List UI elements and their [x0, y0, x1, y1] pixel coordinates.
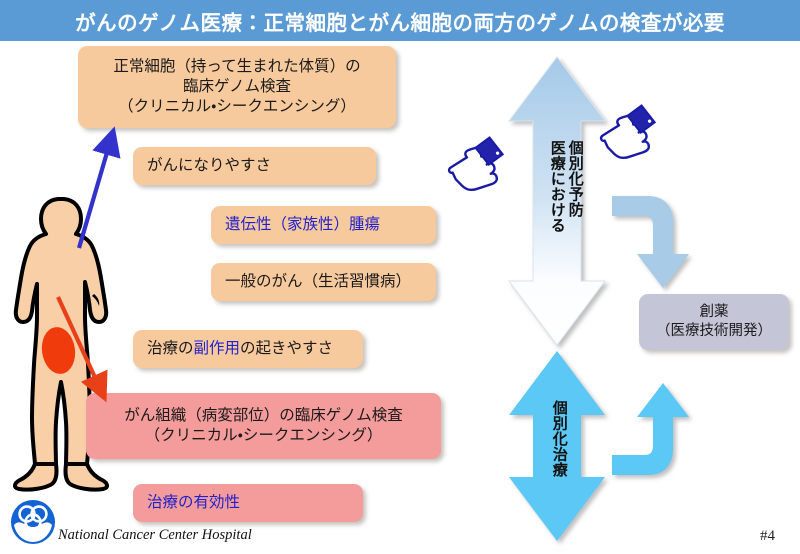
pointing-hand-icon-lower	[595, 103, 662, 163]
box-drug-discovery[interactable]: 創薬 （医療技術開発）	[639, 294, 789, 350]
box-hereditary-tumor[interactable]: 遺伝性（家族性）腫瘍	[211, 206, 436, 244]
side-effect-label: 治療の副作用の起きやすさ	[147, 339, 333, 359]
curved-arrow-up-icon	[612, 383, 689, 475]
common-cancer-label: 一般のがん（生活習慣病）	[225, 272, 411, 292]
page-number: #4	[760, 528, 775, 545]
curved-arrow-down-icon	[612, 196, 689, 288]
tumor-tissue-line2: （クリニカル・シークエンシング）	[124, 426, 403, 446]
hereditary-tumor-label: 遺伝性（家族性）腫瘍	[225, 215, 380, 235]
box-normal-cell-genome-test[interactable]: 正常細胞（持って生まれた体質）の 臨床ゲノム検査 （クリニカル・シークエンシング…	[78, 46, 396, 128]
side-effect-prefix: 治療の	[147, 340, 194, 357]
box-tumor-tissue-genome-test[interactable]: がん組織（病変部位）の臨床ゲノム検査 （クリニカル・シークエンシング）	[86, 393, 441, 459]
side-effect-suffix: の起きやすさ	[240, 340, 333, 357]
label-personalized-prevention-col2: 個別化予防	[566, 140, 584, 218]
normal-cell-line3: （クリニカル・シークエンシング）	[113, 97, 360, 117]
slide-canvas: がんのゲノム医療：正常細胞とがん細胞の両方のゲノムの検査が必要 正常細胞（持って…	[0, 0, 800, 554]
drug-discovery-line2: （医療技術開発）	[656, 322, 772, 341]
box-treatment-side-effect[interactable]: 治療の副作用の起きやすさ	[133, 330, 363, 368]
normal-cell-line1: 正常細胞（持って生まれた体質）の	[113, 57, 360, 77]
page-title: がんのゲノム医療：正常細胞とがん細胞の両方のゲノムの検査が必要	[0, 0, 800, 41]
side-effect-highlight: 副作用	[194, 340, 241, 357]
drug-discovery-line1: 創薬	[656, 303, 772, 322]
treatment-efficacy-label: 治療の有効性	[147, 493, 240, 513]
normal-cell-line2: 臨床ゲノム検査	[113, 77, 360, 97]
slide-title-bar: がんのゲノム医療：正常細胞とがん細胞の両方のゲノムの検査が必要	[0, 0, 800, 41]
cancer-susceptibility-label: がんになりやすさ	[147, 156, 271, 176]
organization-name: National Cancer Center Hospital	[58, 527, 252, 544]
label-personalized-prevention-col1: 医療における	[548, 140, 566, 233]
label-personalized-treatment: 個別化治療	[550, 400, 568, 478]
tumor-tissue-line1: がん組織（病変部位）の臨床ゲノム検査	[124, 406, 403, 426]
box-normal-cell-text: 正常細胞（持って生まれた体質）の 臨床ゲノム検査 （クリニカル・シークエンシング…	[113, 57, 360, 116]
box-cancer-susceptibility[interactable]: がんになりやすさ	[133, 147, 376, 185]
tumor-tissue-text: がん組織（病変部位）の臨床ゲノム検査 （クリニカル・シークエンシング）	[124, 406, 403, 446]
ncc-logo-icon	[10, 499, 56, 545]
box-treatment-efficacy[interactable]: 治療の有効性	[133, 484, 363, 522]
box-common-cancer[interactable]: 一般のがん（生活習慣病）	[211, 263, 436, 301]
drug-discovery-text: 創薬 （医療技術開発）	[656, 303, 772, 340]
pointing-hand-icon-upper	[443, 135, 510, 195]
